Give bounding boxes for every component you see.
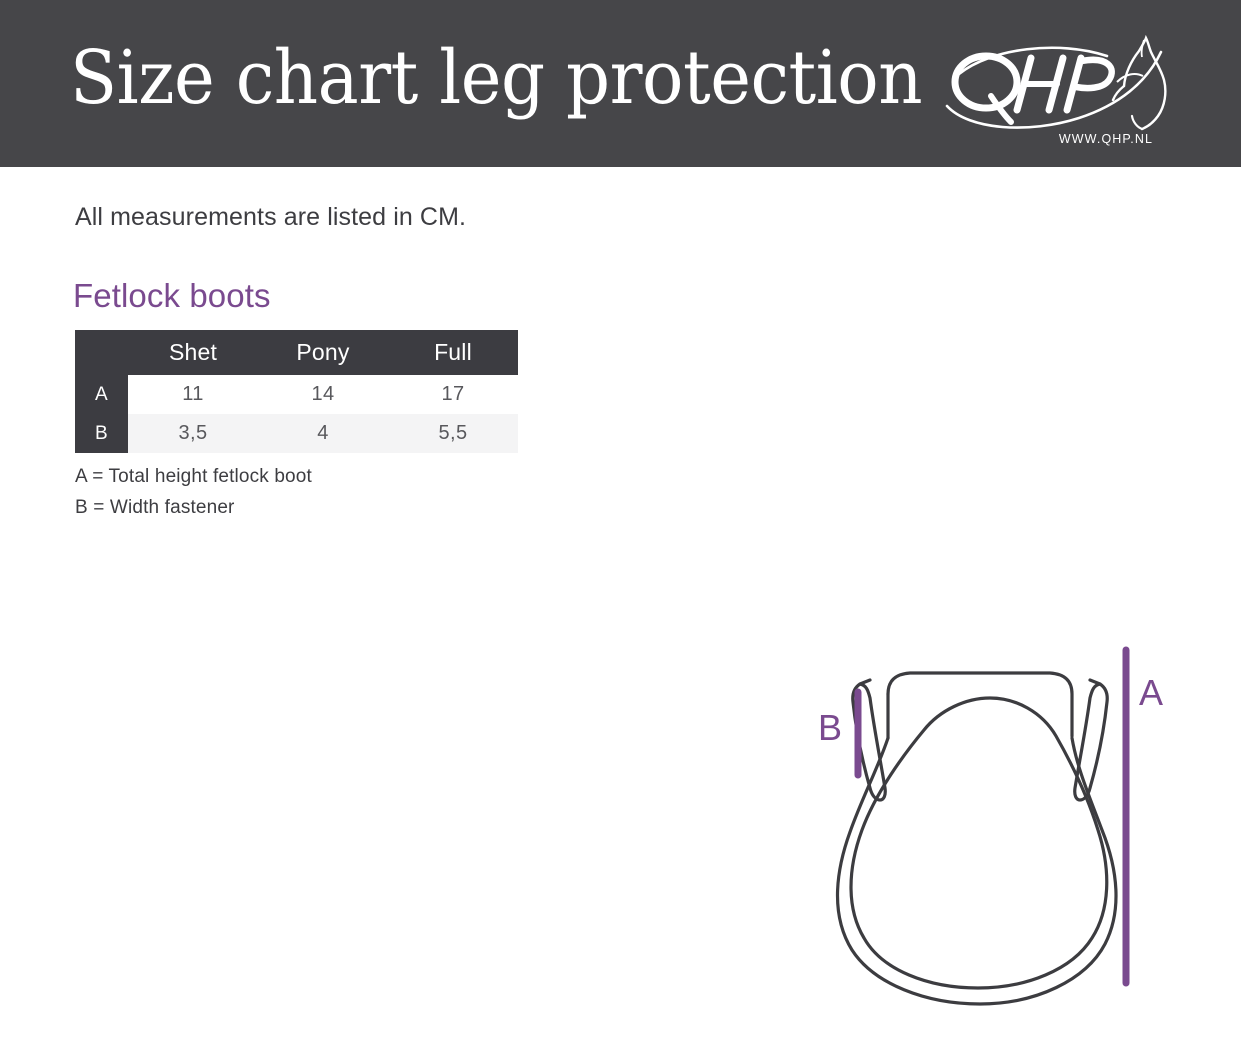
row-label-b: B: [75, 414, 128, 453]
legend-item-b: B = Width fastener: [75, 492, 312, 523]
cell-b-pony: 4: [258, 414, 388, 453]
size-chart-table: Shet Pony Full A 11 14 17 B 3,5 4 5,5: [75, 330, 518, 453]
legend-item-a: A = Total height fetlock boot: [75, 461, 312, 492]
table-header-row: Shet Pony Full: [75, 330, 518, 375]
row-label-a: A: [75, 375, 128, 414]
measurement-note: All measurements are listed in CM.: [75, 200, 466, 234]
dimension-label-a: A: [1139, 675, 1163, 711]
cell-a-full: 17: [388, 375, 518, 414]
qhp-logo-icon: [939, 34, 1169, 146]
column-header-full: Full: [388, 330, 518, 375]
column-header-pony: Pony: [258, 330, 388, 375]
section-heading-fetlock-boots: Fetlock boots: [73, 275, 271, 317]
legend: A = Total height fetlock boot B = Width …: [75, 461, 312, 523]
page-header: Size chart leg protection WW: [0, 0, 1241, 167]
cell-b-shet: 3,5: [128, 414, 258, 453]
dimension-label-b: B: [818, 710, 842, 746]
table-corner-cell: [75, 330, 128, 375]
qhp-logo: WWW.QHP.NL: [939, 34, 1169, 146]
cell-a-pony: 14: [258, 375, 388, 414]
table-body: A 11 14 17 B 3,5 4 5,5: [75, 375, 518, 453]
page-title: Size chart leg protection: [70, 36, 922, 120]
table-row: A 11 14 17: [75, 375, 518, 414]
column-header-shet: Shet: [128, 330, 258, 375]
table-row: B 3,5 4 5,5: [75, 414, 518, 453]
logo-website-url: WWW.QHP.NL: [1059, 132, 1153, 146]
table-header: Shet Pony Full: [75, 330, 518, 375]
cell-b-full: 5,5: [388, 414, 518, 453]
cell-a-shet: 11: [128, 375, 258, 414]
